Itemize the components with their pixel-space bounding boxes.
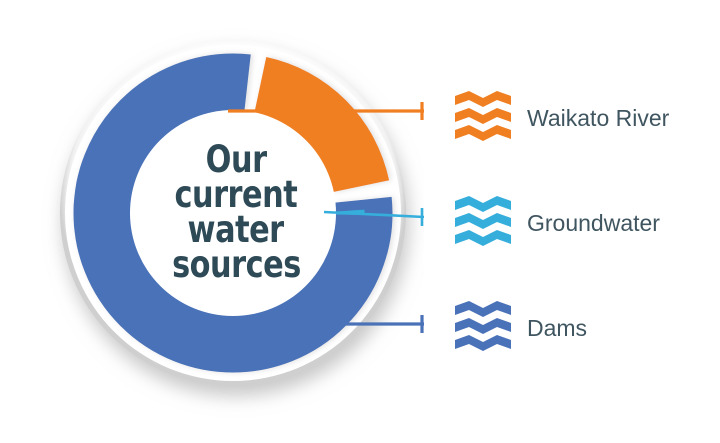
- legend-item-waikato-river[interactable]: Waikato River: [455, 88, 669, 148]
- legend-label-dams: Dams: [527, 317, 587, 340]
- water-waves-icon: [455, 196, 511, 250]
- donut-chart: Our current water sources: [42, 24, 424, 419]
- water-sources-infographic: Our current water sources Waikato River: [0, 0, 720, 443]
- legend-item-groundwater[interactable]: Groundwater: [455, 193, 660, 253]
- water-waves-icon: [455, 301, 511, 355]
- legend: Waikato River Groundwater Dams: [455, 0, 720, 443]
- legend-label-groundwater: Groundwater: [527, 212, 660, 235]
- water-waves-icon: [455, 91, 511, 145]
- legend-label-waikato-river: Waikato River: [527, 107, 669, 130]
- legend-item-dams[interactable]: Dams: [455, 298, 587, 358]
- donut-chart-svg: [42, 24, 424, 419]
- donut-hole: [130, 110, 336, 316]
